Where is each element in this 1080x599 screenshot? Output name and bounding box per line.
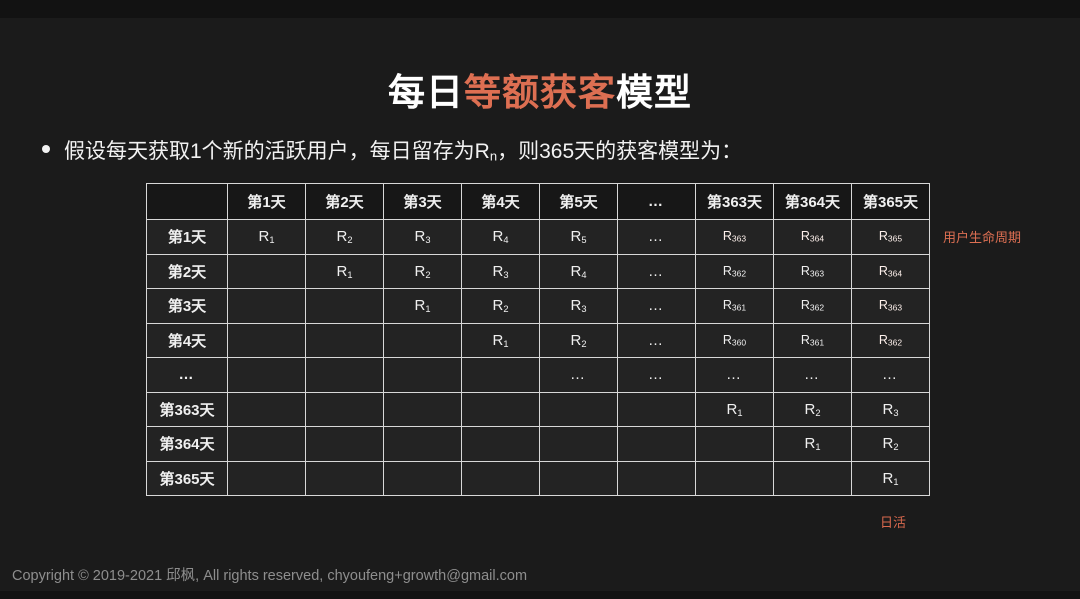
table-cell: R2 [540, 323, 618, 358]
annotation-user-lifecycle: 用户生命周期 [943, 227, 1021, 246]
table-cell [228, 289, 306, 324]
table-cell [696, 461, 774, 496]
table-cell: R2 [462, 289, 540, 324]
table-cell: R361 [774, 323, 852, 358]
table-cell [618, 427, 696, 462]
table-column-header: 第1天 [228, 184, 306, 220]
table-cell: … [618, 323, 696, 358]
table-cell: R1 [462, 323, 540, 358]
retention-model-table: 第1天第2天第3天第4天第5天…第363天第364天第365天第1天R1R2R3… [146, 183, 930, 496]
table-cell [696, 427, 774, 462]
table-cell: R1 [306, 254, 384, 289]
bullet-line: 假设每天获取1个新的活跃用户，每日留存为Rn，则365天的获客模型为： [42, 135, 742, 165]
table-row-label: 第4天 [147, 323, 228, 358]
table-cell [306, 358, 384, 393]
table-cell [228, 461, 306, 496]
top-band [0, 0, 1080, 18]
table-cell [306, 461, 384, 496]
table-cell: R360 [696, 323, 774, 358]
table-cell: R3 [540, 289, 618, 324]
table-corner-cell [147, 184, 228, 220]
table-cell [228, 254, 306, 289]
table-cell [774, 461, 852, 496]
table-column-header: 第4天 [462, 184, 540, 220]
table-column-header: 第365天 [852, 184, 930, 220]
table-cell [462, 358, 540, 393]
table-row: 第4天R1R2…R360R361R362 [147, 323, 930, 358]
table-column-header: 第5天 [540, 184, 618, 220]
table-cell [306, 427, 384, 462]
table-cell: R364 [852, 254, 930, 289]
retention-model-table-wrap: 第1天第2天第3天第4天第5天…第363天第364天第365天第1天R1R2R3… [146, 183, 930, 496]
table-cell: R3 [462, 254, 540, 289]
table-cell: R3 [852, 392, 930, 427]
table-cell: R5 [540, 220, 618, 255]
table-cell [228, 358, 306, 393]
table-cell: … [852, 358, 930, 393]
table-cell [306, 323, 384, 358]
table-cell: … [618, 220, 696, 255]
table-cell: R4 [540, 254, 618, 289]
table-row-label: 第1天 [147, 220, 228, 255]
table-cell [618, 461, 696, 496]
table-cell [384, 427, 462, 462]
table-cell: … [618, 358, 696, 393]
table-row: 第3天R1R2R3…R361R362R363 [147, 289, 930, 324]
table-header-row: 第1天第2天第3天第4天第5天…第363天第364天第365天 [147, 184, 930, 220]
table-row: 第364天R1R2 [147, 427, 930, 462]
bottom-band [0, 591, 1080, 599]
table-cell: … [696, 358, 774, 393]
table-column-header: 第363天 [696, 184, 774, 220]
table-cell [462, 461, 540, 496]
table-cell [618, 392, 696, 427]
table-column-header: 第3天 [384, 184, 462, 220]
table-cell [228, 427, 306, 462]
footer-copyright: Copyright © 2019-2021 邱枫, All rights res… [12, 564, 527, 585]
table-cell: R1 [852, 461, 930, 496]
table-cell [384, 358, 462, 393]
table-cell [228, 323, 306, 358]
table-cell [306, 392, 384, 427]
bullet-text-part2: ，则365天的获客模型为： [497, 140, 742, 163]
annotation-dau: 日活 [880, 512, 906, 531]
title-accent: 等额获客 [464, 72, 616, 113]
table-cell: R1 [228, 220, 306, 255]
title-prefix: 每日 [388, 72, 464, 113]
table-cell [462, 392, 540, 427]
bullet-text-part1: 假设每天获取1个新的活跃用户，每日留存为R [64, 140, 490, 163]
table-row: ……………… [147, 358, 930, 393]
title-suffix: 模型 [616, 72, 692, 113]
table-cell [462, 427, 540, 462]
table-cell [540, 461, 618, 496]
table-row: 第1天R1R2R3R4R5…R363R364R365 [147, 220, 930, 255]
table-cell: R2 [774, 392, 852, 427]
table-row-label: 第2天 [147, 254, 228, 289]
table-cell: R1 [384, 289, 462, 324]
table-cell: R363 [774, 254, 852, 289]
table-cell [384, 323, 462, 358]
table-row-label: 第365天 [147, 461, 228, 496]
table-cell: R4 [462, 220, 540, 255]
table-cell: … [774, 358, 852, 393]
bullet-text: 假设每天获取1个新的活跃用户，每日留存为Rn，则365天的获客模型为： [64, 135, 742, 165]
table-cell: R361 [696, 289, 774, 324]
table-cell: R2 [384, 254, 462, 289]
table-column-header: … [618, 184, 696, 220]
table-cell: R362 [852, 323, 930, 358]
table-cell: … [618, 254, 696, 289]
table-cell [228, 392, 306, 427]
table-cell: … [540, 358, 618, 393]
table-cell: R362 [774, 289, 852, 324]
page-title: 每日等额获客模型 [0, 62, 1080, 116]
table-cell [384, 461, 462, 496]
table-row-label: 第3天 [147, 289, 228, 324]
table-cell: R363 [696, 220, 774, 255]
table-cell: … [618, 289, 696, 324]
table-cell: R1 [696, 392, 774, 427]
table-cell [306, 289, 384, 324]
table-cell: R3 [384, 220, 462, 255]
table-row-label: 第363天 [147, 392, 228, 427]
table-cell [384, 392, 462, 427]
table-column-header: 第2天 [306, 184, 384, 220]
table-cell: R365 [852, 220, 930, 255]
table-cell: R362 [696, 254, 774, 289]
table-cell: R363 [852, 289, 930, 324]
bullet-dot-icon [42, 145, 50, 153]
table-cell: R364 [774, 220, 852, 255]
table-cell [540, 427, 618, 462]
table-row: 第365天R1 [147, 461, 930, 496]
table-row-label: … [147, 358, 228, 393]
table-cell: R2 [852, 427, 930, 462]
table-column-header: 第364天 [774, 184, 852, 220]
table-row: 第363天R1R2R3 [147, 392, 930, 427]
table-cell [540, 392, 618, 427]
table-cell: R2 [306, 220, 384, 255]
bullet-subscript: n [490, 148, 497, 163]
table-row: 第2天R1R2R3R4…R362R363R364 [147, 254, 930, 289]
table-cell: R1 [774, 427, 852, 462]
table-row-label: 第364天 [147, 427, 228, 462]
slide-canvas: 每日等额获客模型 假设每天获取1个新的活跃用户，每日留存为Rn，则365天的获客… [0, 0, 1080, 599]
